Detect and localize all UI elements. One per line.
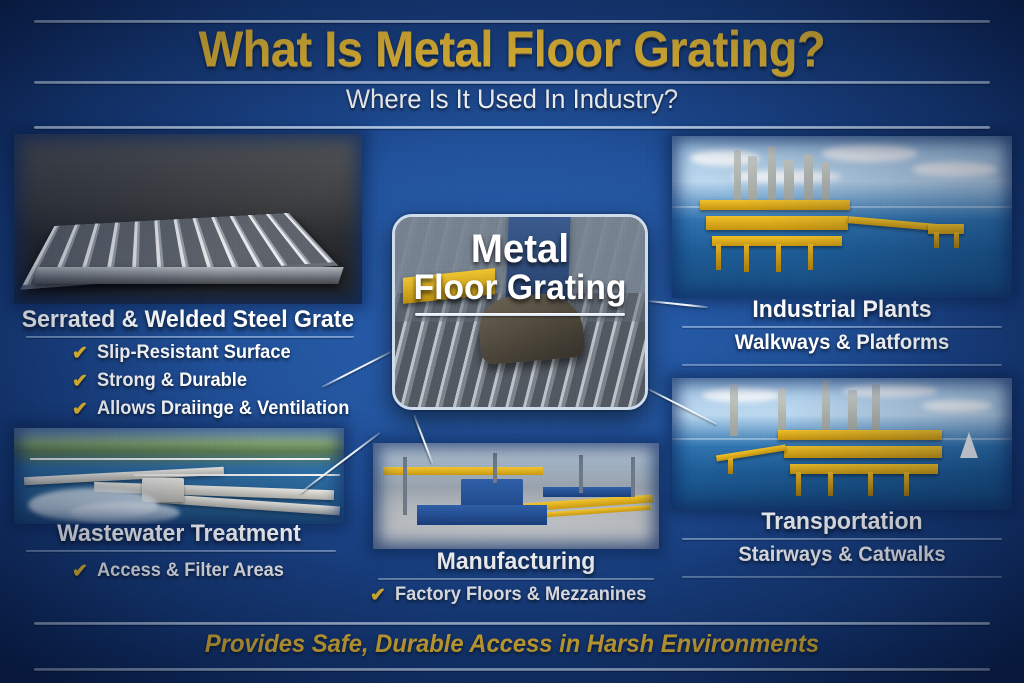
rig-tower-shape xyxy=(872,384,880,436)
basin-walkway-shape xyxy=(94,482,334,500)
rig-leg-shape xyxy=(716,244,721,270)
photo-manufacturing xyxy=(373,443,659,549)
rig-bridge-shape xyxy=(848,216,936,231)
bullet-label: Strong & Durable xyxy=(97,370,247,392)
rig-deck-shape xyxy=(706,216,848,230)
bullet-label: Factory Floors & Mezzanines xyxy=(395,584,646,606)
rig-tower-shape xyxy=(768,146,776,208)
infographic-canvas: What Is Metal Floor Grating? Where Is It… xyxy=(0,0,1024,683)
cloud-shape xyxy=(702,388,782,402)
rig-deck-shape xyxy=(790,464,938,474)
cloud-shape xyxy=(732,170,842,183)
check-icon: ✔ xyxy=(370,586,386,605)
rig-walkway-shape xyxy=(716,445,786,462)
rig-tower-shape xyxy=(748,156,757,208)
rule-top-right-lower xyxy=(682,364,1002,366)
clarifier-box-shape xyxy=(142,478,184,502)
rig-tower-shape xyxy=(784,160,794,208)
photo-wastewater-treatment xyxy=(14,428,344,524)
aeration-foam-shape xyxy=(28,488,158,522)
rig-leg-shape xyxy=(796,472,801,496)
bullet-item: ✔ Slip-Resistant Surface xyxy=(72,342,360,364)
structural-post xyxy=(631,457,635,497)
check-icon: ✔ xyxy=(72,400,88,419)
structural-post xyxy=(403,457,407,515)
grating-panel-shape xyxy=(20,213,339,290)
machine-shape xyxy=(417,505,547,525)
bullet-item: ✔ Factory Floors & Mezzanines xyxy=(370,584,657,606)
rule-top-right xyxy=(682,326,1002,328)
subheading-stairways-catwalks: Stairways & Catwalks xyxy=(679,543,1005,567)
basin-walkway-shape xyxy=(154,494,340,516)
bullet-item: ✔ Allows Draiinge & Ventilation xyxy=(72,398,360,420)
bullet-label: Access & Filter Areas xyxy=(97,560,284,582)
rule-bottom-right-lower xyxy=(682,576,1002,578)
handrail-shape xyxy=(134,474,340,476)
bullet-label: Allows Draiinge & Ventilation xyxy=(97,398,349,420)
heading-transportation: Transportation xyxy=(679,508,1005,536)
bullets-top-left: ✔ Slip-Resistant Surface ✔ Strong & Dura… xyxy=(72,342,360,426)
rig-deck-shape xyxy=(700,200,850,210)
rig-tower-shape xyxy=(804,154,813,208)
footer-top-rule xyxy=(34,622,990,625)
rig-leg-shape xyxy=(954,232,959,248)
page-title: What Is Metal Floor Grating? xyxy=(31,20,994,78)
rig-leg-shape xyxy=(808,244,813,270)
photo-industrial-plant xyxy=(672,136,1012,298)
bullet-item: ✔ Strong & Durable xyxy=(72,370,360,392)
cloud-shape xyxy=(912,162,998,177)
cloud-shape xyxy=(822,144,918,162)
bullet-item: ✔ Access & Filter Areas xyxy=(72,560,292,582)
bullets-bottom-left: ✔ Access & Filter Areas xyxy=(72,560,292,588)
cloud-shape xyxy=(922,400,992,412)
rig-tower-shape xyxy=(848,390,857,436)
overhead-crane-beam xyxy=(523,494,653,511)
rig-leg-shape xyxy=(776,244,781,272)
check-icon: ✔ xyxy=(72,372,88,391)
heading-industrial-plants: Industrial Plants xyxy=(679,296,1005,324)
rig-leg-shape xyxy=(744,244,749,272)
handrail-shape xyxy=(30,458,330,460)
rig-tower-shape xyxy=(778,388,786,436)
badge-divider xyxy=(415,313,625,316)
horizon-line xyxy=(672,438,1012,440)
rule-bottom-right xyxy=(682,538,1002,540)
rig-leg-shape xyxy=(934,232,939,248)
rig-leg-shape xyxy=(828,472,833,496)
check-icon: ✔ xyxy=(72,344,88,363)
rig-tower-shape xyxy=(734,150,741,208)
badge-line-2: Floor Grating xyxy=(400,270,640,307)
center-badge: Metal Floor Grating xyxy=(392,214,648,410)
grating-edge-shape xyxy=(32,267,344,284)
page-subtitle: Where Is It Used In Industry? xyxy=(26,84,999,115)
heading-manufacturing: Manufacturing xyxy=(379,548,654,576)
rule-bottom-center xyxy=(378,578,654,580)
rule-top-left xyxy=(26,336,354,338)
rig-tower-shape xyxy=(730,384,738,436)
rig-deck-shape xyxy=(784,446,942,458)
rule-bottom-left xyxy=(26,550,336,552)
rig-deck-shape xyxy=(778,430,942,440)
rig-deck-shape xyxy=(712,236,842,246)
photo-transportation xyxy=(672,378,1012,510)
overhead-crane-beam xyxy=(383,467,543,475)
structural-post xyxy=(493,453,497,483)
rig-satellite-platform xyxy=(928,224,964,234)
footer-tagline: Provides Safe, Durable Access in Harsh E… xyxy=(26,630,999,659)
badge-line-1: Metal xyxy=(400,229,640,270)
rig-tower-shape xyxy=(822,380,830,436)
conveyor-shape xyxy=(543,487,633,497)
heading-serrated-steel-grate: Serrated & Welded Steel Grate xyxy=(21,306,355,334)
sailboat-icon xyxy=(960,432,978,458)
machine-shape xyxy=(461,479,523,525)
header-bottom-rule xyxy=(34,126,990,129)
cloud-shape xyxy=(842,384,938,397)
rig-leg-shape xyxy=(728,458,733,474)
footer-bottom-rule xyxy=(34,668,990,671)
guard-rail-shape xyxy=(533,505,651,518)
structural-post xyxy=(579,455,583,493)
heading-wastewater-treatment: Wastewater Treatment xyxy=(21,520,338,548)
bullets-bottom-center: ✔ Factory Floors & Mezzanines xyxy=(370,584,657,612)
horizon-line xyxy=(672,206,1012,208)
rig-leg-shape xyxy=(904,472,909,496)
check-icon: ✔ xyxy=(72,562,88,581)
subheading-walkways-platforms: Walkways & Platforms xyxy=(679,331,1005,355)
photo-steel-grate xyxy=(14,134,362,304)
rig-leg-shape xyxy=(868,472,873,496)
badge-label-group: Metal Floor Grating xyxy=(395,229,645,316)
basin-walkway-shape xyxy=(24,467,224,485)
cloud-shape xyxy=(690,150,760,166)
bullet-label: Slip-Resistant Surface xyxy=(97,342,291,364)
rig-tower-shape xyxy=(822,162,830,208)
